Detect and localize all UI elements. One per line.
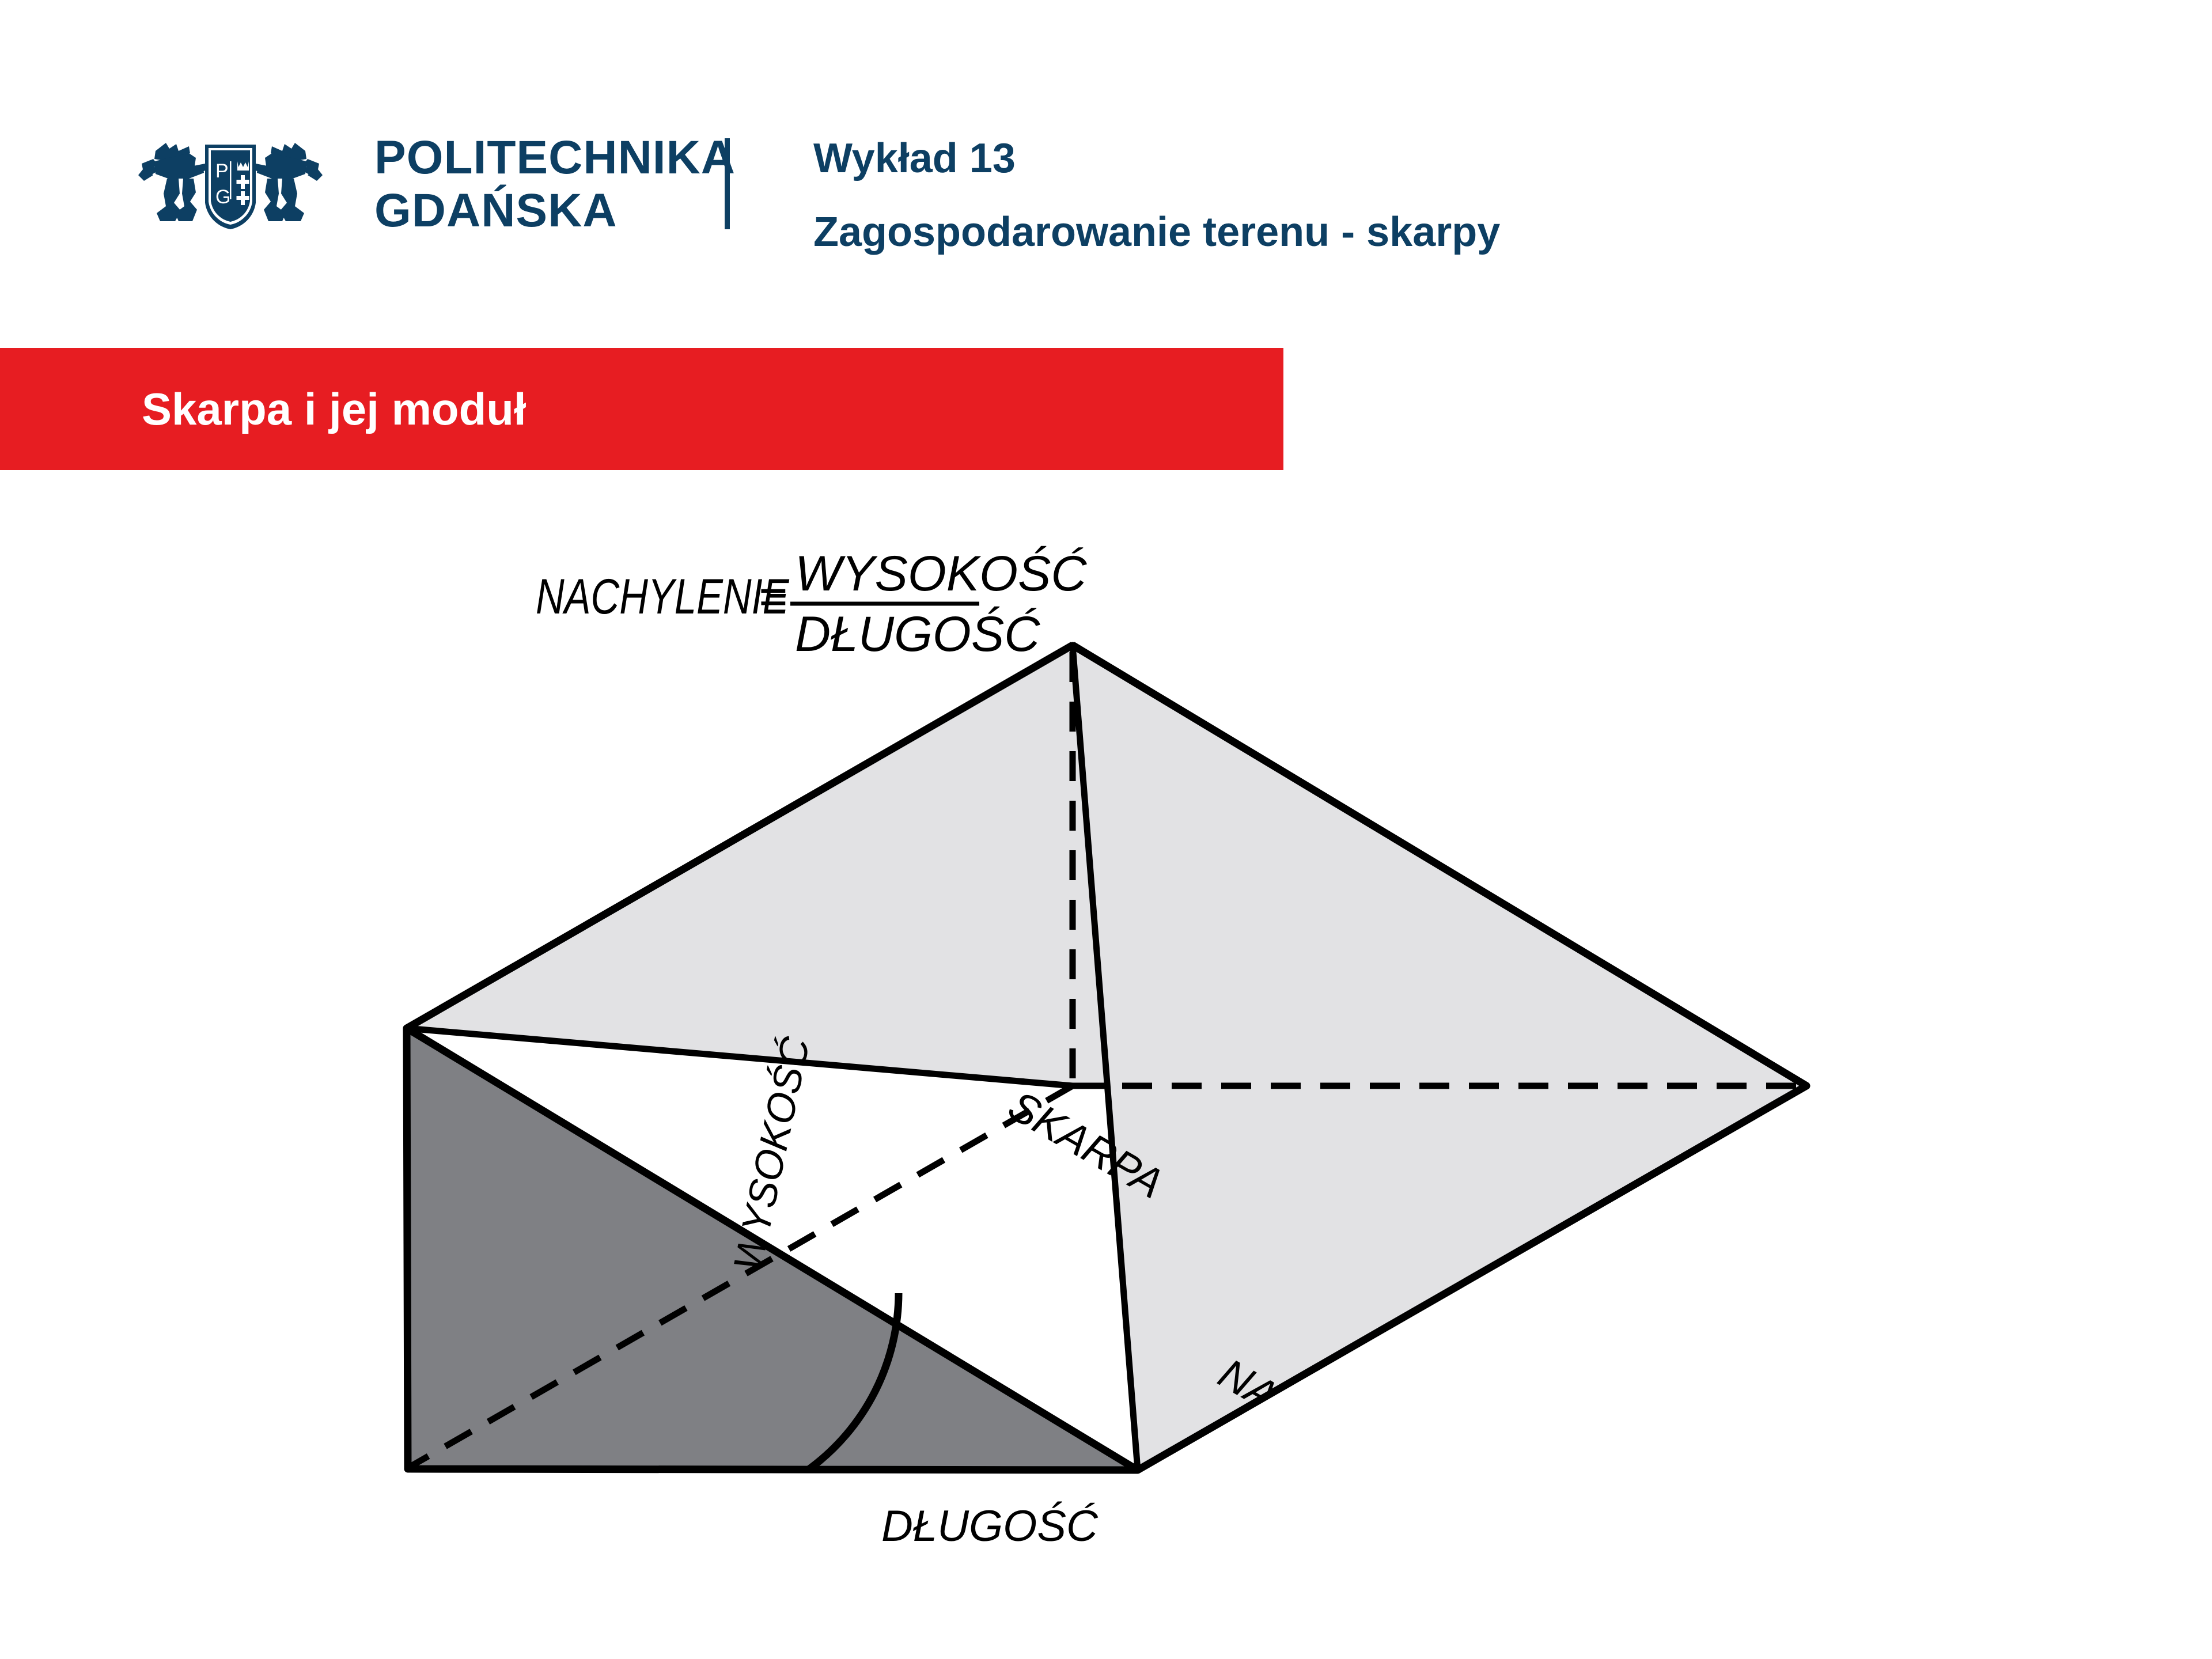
university-name-line1: POLITECHNIKA [374,131,736,184]
lion-left-icon [138,143,207,221]
formula-denominator: DŁUGOŚĆ [795,607,1040,662]
header-divider [725,138,730,229]
lion-right-icon [253,143,323,221]
lecture-subject: Zagospodarowanie terenu - skarpy [813,207,1500,257]
section-title: Skarpa i jej moduł [142,381,527,437]
lecture-info: Wykład 13 Zagospodarowanie terenu - skar… [813,134,1500,257]
formula-left-term: NACHYLENIE [536,569,790,624]
lecture-number: Wykład 13 [813,134,1500,183]
section-banner: Skarpa i jej moduł [0,348,1283,470]
wedge-slope-face [1073,645,1806,1470]
politechnika-gdanska-logo: P G [134,126,327,242]
slide-header: P G POLITECHNIKA GDAŃSKA Wykład 13 Zagos… [0,0,2212,346]
shield-letter-p: P [215,160,229,182]
label-dlugosc: DŁUGOŚĆ [881,1502,1099,1551]
slope-formula: NACHYLENIE = WYSOKOŚĆ DŁUGOŚĆ [536,546,1087,662]
university-name-line2: GDAŃSKA [374,184,736,237]
shield-letter-g: G [215,186,230,208]
formula-equals: = [758,569,787,624]
label-nachylenie-on-slope: NACHYLENIE [1211,1349,1471,1527]
skarpa-wedge-diagram: NACHYLENIE = WYSOKOŚĆ DŁUGOŚĆ [0,518,2212,1613]
university-name: POLITECHNIKA GDAŃSKA [374,131,736,237]
formula-numerator: WYSOKOŚĆ [795,546,1087,601]
